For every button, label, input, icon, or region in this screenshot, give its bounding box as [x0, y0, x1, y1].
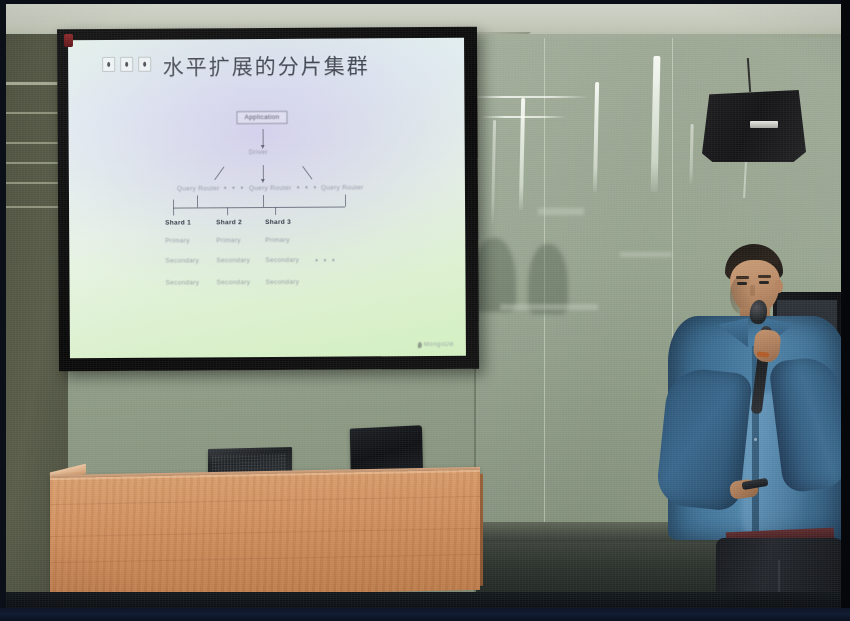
letterbox-right: [841, 0, 850, 621]
letterbox-bottom: [0, 608, 850, 621]
eyebrow-right: [758, 275, 771, 278]
speaker-badge: [750, 121, 778, 128]
diagram-node-query-router-2: Query Router: [249, 185, 292, 192]
diagram-shard-2-primary: Primary: [216, 237, 241, 244]
router-ellipsis-2: • • •: [297, 185, 318, 192]
diagram-shard-2-secondary-2: Secondary: [216, 279, 250, 286]
screen-corner-clip: [64, 34, 73, 47]
slide-watermark-label: MongoDB: [424, 342, 454, 348]
diagram-shard-3-primary: Primary: [265, 237, 290, 244]
diagram-shard-2-label: Shard 2: [216, 219, 242, 226]
slide-watermark: MongoDB: [418, 342, 454, 348]
mongodb-leaf-icon: [418, 342, 422, 348]
diagram-shard-3-secondary-1: Secondary: [265, 257, 299, 264]
sharded-cluster-diagram: Application Driver Query Router • • • Qu…: [68, 38, 466, 358]
letterbox-top: [0, 0, 850, 4]
nose: [750, 285, 755, 296]
diagram-node-query-router-3: Query Router: [321, 184, 364, 191]
diagram-shard-3-secondary-2: Secondary: [265, 279, 299, 286]
eye-right: [759, 281, 769, 284]
laptop-screen: [350, 425, 423, 472]
projection-screen: 水平扩展的分片集群 Application Driver Query: [57, 27, 479, 372]
diagram-shard-2-secondary-1: Secondary: [216, 257, 250, 264]
diagram-shard-1-secondary-1: Secondary: [165, 257, 199, 264]
diagram-shard-1-secondary-2: Secondary: [165, 279, 199, 286]
diagram-shard-1-primary: Primary: [165, 237, 190, 244]
wooden-podium: [50, 470, 480, 598]
eye-left: [737, 282, 747, 285]
router-ellipsis-1: • • •: [224, 185, 245, 192]
diagram-node-application: Application: [236, 111, 287, 124]
slide-canvas: 水平扩展的分片集群 Application Driver Query: [68, 38, 466, 358]
ear: [775, 280, 783, 293]
diagram-node-driver: Driver: [249, 149, 268, 156]
shard-ellipsis: • • •: [315, 258, 336, 265]
diagram-node-query-router-1: Query Router: [177, 185, 220, 192]
room-scene: 水平扩展的分片集群 Application Driver Query: [6, 4, 841, 608]
letterbox-left: [0, 0, 6, 621]
eyebrow-left: [736, 276, 749, 279]
diagram-shard-1-label: Shard 1: [165, 219, 191, 226]
diagram-shard-3-label: Shard 3: [265, 219, 291, 226]
presenter: [646, 242, 841, 608]
floor-shadow: [6, 592, 841, 608]
presentation-photo: 水平扩展的分片集群 Application Driver Query: [0, 0, 850, 621]
